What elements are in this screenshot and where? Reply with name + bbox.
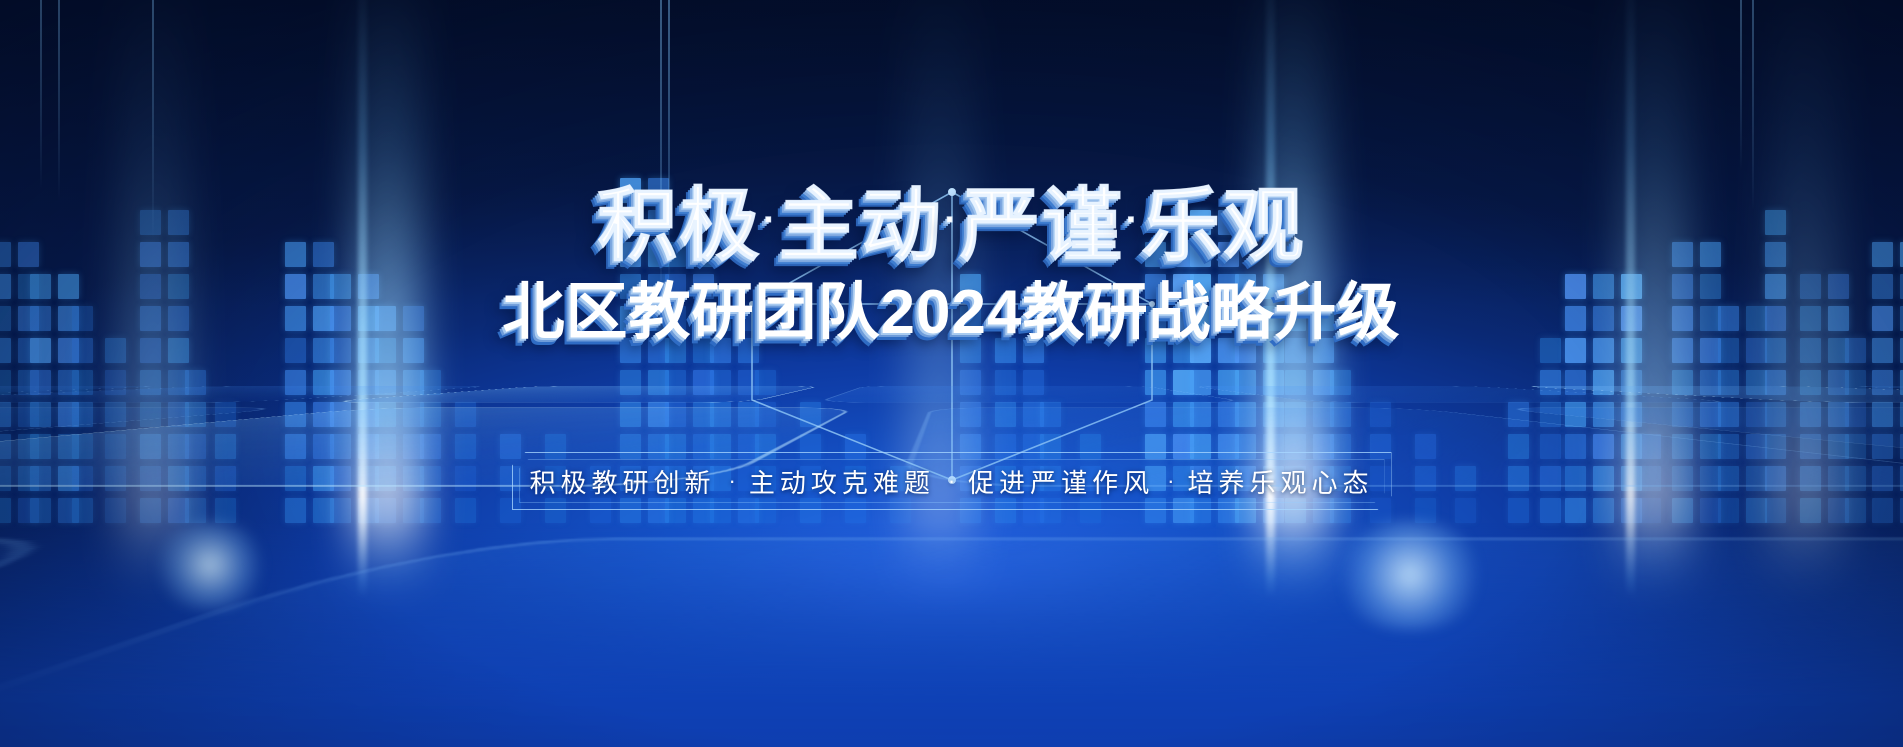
tagline-separator-2: · (935, 468, 968, 494)
tagline-separator-3: · (1154, 468, 1187, 494)
page-title-sub: 北区教研团队2024教研战略升级 (0, 282, 1903, 344)
banner-root: 积极·主动·严谨·乐观 北区教研团队2024教研战略升级 积极教研创新 · 主动… (0, 0, 1903, 747)
title-separator-2: · (945, 201, 958, 239)
page-title-main: 积极·主动·严谨·乐观 (0, 186, 1903, 266)
tagline-item-3: 促进严谨作风 (968, 463, 1154, 500)
title-separator-3: · (1126, 201, 1139, 239)
title-word-4: 乐观 (1141, 181, 1305, 270)
tagline-text: 积极教研创新 · 主动攻克难题 · 促进严谨作风 · 培养乐观心态 (512, 452, 1392, 510)
title-word-2: 主动 (779, 181, 943, 270)
title-word-3: 严谨 (960, 181, 1124, 270)
tagline-item-1: 积极教研创新 (529, 463, 715, 500)
tagline-box: 积极教研创新 · 主动攻克难题 · 促进严谨作风 · 培养乐观心态 (512, 452, 1392, 510)
tagline-item-2: 主动攻克难题 (749, 463, 935, 500)
tagline-item-4: 培养乐观心态 (1188, 463, 1374, 500)
tagline-separator-1: · (715, 468, 748, 494)
title-separator-1: · (764, 201, 777, 239)
title-word-1: 积极 (598, 181, 762, 270)
banner-content: 积极·主动·严谨·乐观 北区教研团队2024教研战略升级 积极教研创新 · 主动… (0, 0, 1903, 747)
